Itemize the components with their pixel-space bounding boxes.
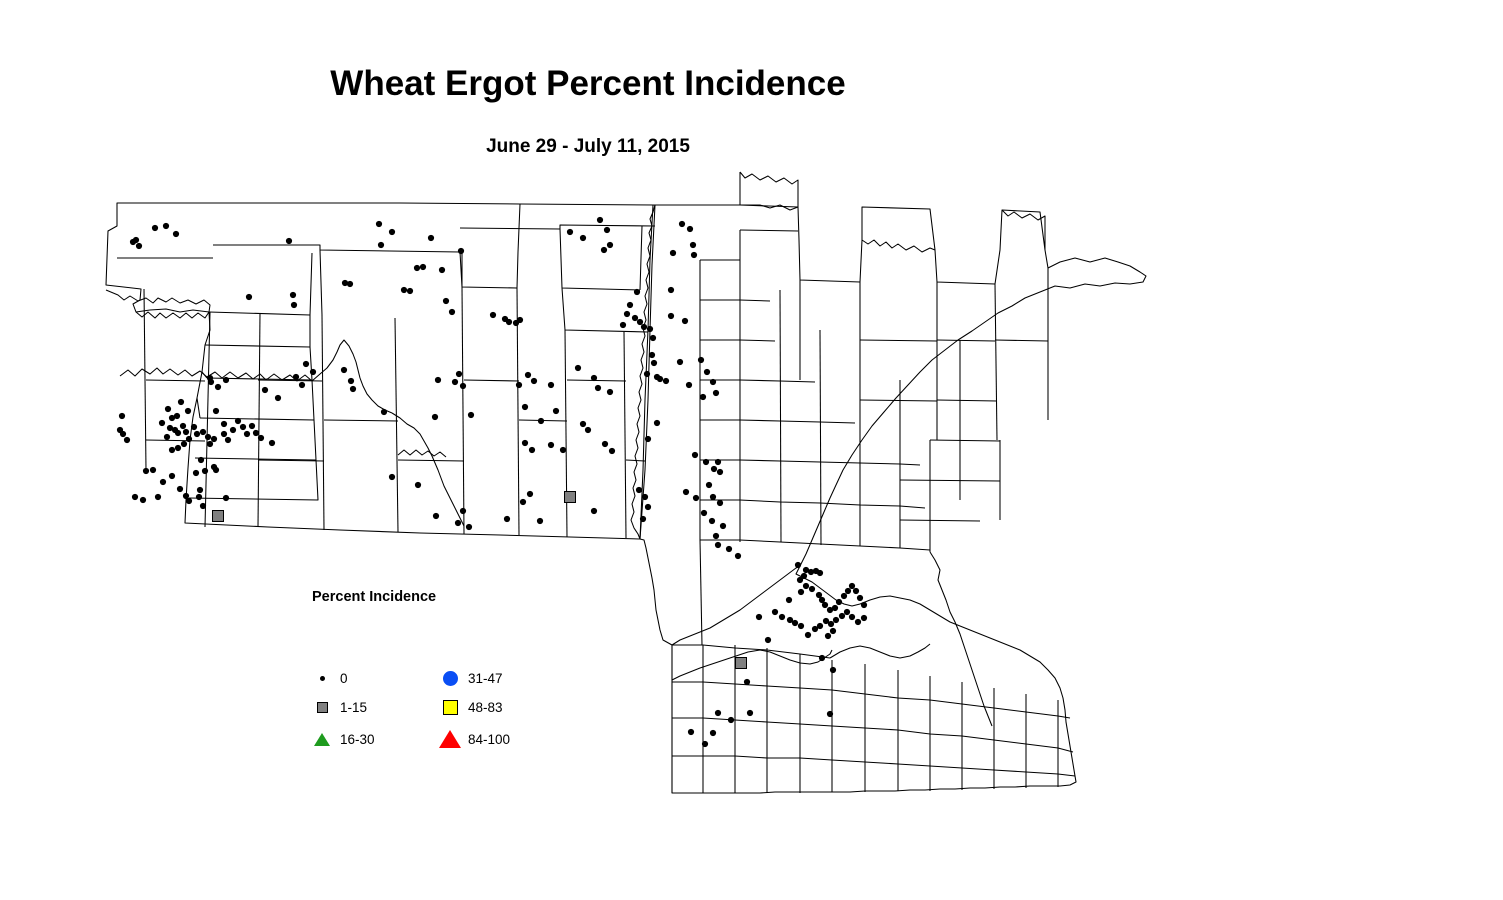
map-point	[401, 287, 407, 293]
map-point	[830, 628, 836, 634]
map-point	[516, 382, 522, 388]
map-point	[832, 605, 838, 611]
map-point	[432, 414, 438, 420]
map-point	[817, 570, 823, 576]
map-point	[735, 553, 741, 559]
map-point	[213, 511, 224, 522]
map-point	[668, 313, 674, 319]
map-point	[845, 588, 851, 594]
map-point	[529, 447, 535, 453]
map-point	[490, 312, 496, 318]
map-point	[830, 667, 836, 673]
map-point	[136, 243, 142, 249]
map-legend: Percent Incidence 0 1-15 16-30 31-47 48-…	[310, 589, 540, 719]
map-point	[435, 377, 441, 383]
map-point	[525, 372, 531, 378]
map-point	[504, 516, 510, 522]
map-point	[601, 247, 607, 253]
map-canvas	[0, 0, 1503, 900]
map-point	[185, 408, 191, 414]
map-point	[702, 741, 708, 747]
map-point	[200, 429, 206, 435]
small-black-dot-icon	[310, 676, 334, 681]
map-point	[215, 384, 221, 390]
map-point	[710, 730, 716, 736]
map-point	[839, 613, 845, 619]
map-point	[709, 518, 715, 524]
map-point	[193, 470, 199, 476]
map-point	[609, 448, 615, 454]
map-point	[657, 376, 663, 382]
map-point	[207, 441, 213, 447]
map-point	[704, 369, 710, 375]
map-point	[645, 436, 651, 442]
map-point	[538, 418, 544, 424]
map-point	[140, 497, 146, 503]
map-point	[849, 614, 855, 620]
map-point	[717, 469, 723, 475]
map-point	[132, 494, 138, 500]
gray-square-icon	[310, 702, 334, 713]
map-point	[240, 424, 246, 430]
map-point	[466, 524, 472, 530]
map-point	[645, 504, 651, 510]
map-point	[198, 457, 204, 463]
map-point	[747, 710, 753, 716]
map-point	[389, 229, 395, 235]
map-point	[460, 508, 466, 514]
map-point	[548, 442, 554, 448]
map-point	[253, 430, 259, 436]
map-point	[458, 248, 464, 254]
map-point	[223, 377, 229, 383]
map-point	[120, 431, 126, 437]
map-point	[792, 620, 798, 626]
map-point	[649, 352, 655, 358]
map-point	[350, 386, 356, 392]
map-point	[575, 365, 581, 371]
state-county-boundaries	[106, 172, 1146, 793]
map-point	[159, 420, 165, 426]
map-point	[637, 319, 643, 325]
map-point	[803, 583, 809, 589]
map-point	[855, 619, 861, 625]
map-point	[819, 655, 825, 661]
map-point	[155, 494, 161, 500]
map-point	[690, 242, 696, 248]
map-point	[798, 589, 804, 595]
map-point	[668, 287, 674, 293]
map-point	[857, 595, 863, 601]
map-point	[772, 609, 778, 615]
map-point	[634, 289, 640, 295]
map-point	[654, 420, 660, 426]
map-point	[679, 221, 685, 227]
map-point	[720, 523, 726, 529]
legend-item-31-47[interactable]: 31-47	[438, 669, 503, 687]
map-point	[180, 423, 186, 429]
map-point	[378, 242, 384, 248]
map-point	[152, 225, 158, 231]
map-point	[686, 382, 692, 388]
map-point	[150, 467, 156, 473]
map-point	[591, 508, 597, 514]
red-triangle-icon	[438, 730, 462, 748]
map-point	[433, 513, 439, 519]
map-point	[744, 679, 750, 685]
yellow-square-icon	[438, 700, 462, 715]
legend-label-0: 0	[340, 671, 348, 686]
map-point	[703, 459, 709, 465]
map-point	[636, 487, 642, 493]
map-point	[205, 434, 211, 440]
map-point	[765, 637, 771, 643]
map-point	[736, 658, 747, 669]
map-point	[597, 217, 603, 223]
map-point	[715, 710, 721, 716]
map-point	[522, 404, 528, 410]
map-point	[801, 573, 807, 579]
legend-label-1-15: 1-15	[340, 700, 367, 715]
map-point	[213, 467, 219, 473]
map-point	[632, 315, 638, 321]
map-point	[303, 361, 309, 367]
map-point	[186, 436, 192, 442]
map-point	[670, 250, 676, 256]
map-point	[798, 623, 804, 629]
map-point	[644, 371, 650, 377]
map-point	[701, 510, 707, 516]
map-point	[706, 482, 712, 488]
map-point	[213, 408, 219, 414]
map-point	[347, 281, 353, 287]
map-point	[389, 474, 395, 480]
map-point	[861, 615, 867, 621]
map-point	[249, 423, 255, 429]
map-point	[585, 427, 591, 433]
map-point	[178, 399, 184, 405]
map-point	[291, 302, 297, 308]
map-point	[194, 431, 200, 437]
map-point	[275, 395, 281, 401]
map-point	[687, 226, 693, 232]
map-point	[293, 374, 299, 380]
legend-item-1-15[interactable]: 1-15	[310, 698, 367, 716]
map-point	[455, 520, 461, 526]
map-point	[710, 379, 716, 385]
map-point	[175, 445, 181, 451]
map-point	[262, 387, 268, 393]
legend-items: 0 1-15 16-30 31-47 48-83 84-100	[310, 627, 540, 717]
map-point	[428, 235, 434, 241]
map-point	[290, 292, 296, 298]
map-point	[624, 311, 630, 317]
map-point	[717, 500, 723, 506]
map-point	[420, 264, 426, 270]
map-point	[565, 492, 576, 503]
map-point	[651, 360, 657, 366]
map-point	[415, 482, 421, 488]
map-point	[407, 288, 413, 294]
map-point	[580, 235, 586, 241]
map-point	[691, 252, 697, 258]
map-point	[809, 586, 815, 592]
map-point	[779, 614, 785, 620]
map-point	[786, 597, 792, 603]
map-point	[414, 265, 420, 271]
map-point	[683, 489, 689, 495]
green-triangle-icon	[310, 733, 334, 746]
map-point	[567, 229, 573, 235]
map-point	[443, 298, 449, 304]
map-point	[299, 382, 305, 388]
map-point	[225, 437, 231, 443]
map-point	[211, 436, 217, 442]
county-map-svg	[0, 0, 1503, 900]
map-point	[715, 542, 721, 548]
map-point	[595, 385, 601, 391]
legend-label-84-100: 84-100	[468, 732, 510, 747]
map-point	[286, 238, 292, 244]
legend-title: Percent Incidence	[312, 589, 540, 605]
map-point	[647, 326, 653, 332]
map-point	[756, 614, 762, 620]
map-point	[163, 223, 169, 229]
map-point	[650, 335, 656, 341]
map-point	[173, 231, 179, 237]
map-point	[548, 382, 554, 388]
map-point	[715, 459, 721, 465]
map-point	[607, 242, 613, 248]
map-point	[560, 447, 566, 453]
map-point	[795, 562, 801, 568]
map-point	[452, 379, 458, 385]
map-point	[698, 357, 704, 363]
map-point	[713, 390, 719, 396]
map-point	[682, 318, 688, 324]
map-point	[124, 437, 130, 443]
map-point	[119, 413, 125, 419]
map-point	[517, 317, 523, 323]
map-point	[181, 441, 187, 447]
map-point	[641, 324, 647, 330]
map-point	[710, 494, 716, 500]
legend-item-48-83[interactable]: 48-83	[438, 698, 503, 716]
legend-item-0[interactable]: 0	[310, 669, 348, 687]
map-point	[663, 378, 669, 384]
map-point	[207, 375, 213, 381]
legend-label-16-30: 16-30	[340, 732, 375, 747]
map-point	[642, 494, 648, 500]
map-point	[160, 479, 166, 485]
blue-circle-icon	[438, 671, 462, 686]
map-point	[196, 494, 202, 500]
map-point	[607, 389, 613, 395]
map-point	[700, 394, 706, 400]
map-point	[693, 495, 699, 501]
map-point	[713, 533, 719, 539]
map-point	[381, 409, 387, 415]
map-point	[531, 378, 537, 384]
legend-label-31-47: 31-47	[468, 671, 503, 686]
map-point	[861, 602, 867, 608]
map-point	[258, 435, 264, 441]
map-point	[836, 599, 842, 605]
map-point	[627, 302, 633, 308]
map-point	[169, 447, 175, 453]
map-point	[439, 267, 445, 273]
map-point	[527, 491, 533, 497]
map-point	[269, 440, 275, 446]
map-point	[853, 588, 859, 594]
map-point	[348, 378, 354, 384]
map-point	[841, 593, 847, 599]
legend-item-84-100[interactable]: 84-100	[438, 730, 510, 748]
map-point	[223, 495, 229, 501]
map-point	[604, 227, 610, 233]
map-point	[246, 294, 252, 300]
map-point	[235, 418, 241, 424]
map-point	[177, 486, 183, 492]
map-point	[805, 632, 811, 638]
map-point	[244, 431, 250, 437]
map-point	[456, 371, 462, 377]
map-point	[692, 452, 698, 458]
map-point	[164, 434, 170, 440]
map-point	[310, 369, 316, 375]
map-point	[825, 633, 831, 639]
map-point	[197, 487, 203, 493]
map-point	[844, 609, 850, 615]
map-point	[827, 711, 833, 717]
map-point	[828, 621, 834, 627]
map-point	[183, 429, 189, 435]
map-point	[728, 717, 734, 723]
map-point	[591, 375, 597, 381]
map-point	[376, 221, 382, 227]
map-point	[449, 309, 455, 315]
map-point	[169, 473, 175, 479]
map-point	[553, 408, 559, 414]
map-point	[175, 430, 181, 436]
map-point	[202, 468, 208, 474]
map-point	[812, 626, 818, 632]
map-point	[230, 427, 236, 433]
map-point	[688, 729, 694, 735]
map-point	[341, 367, 347, 373]
map-point	[174, 413, 180, 419]
map-point	[677, 359, 683, 365]
map-point	[711, 466, 717, 472]
map-point	[186, 498, 192, 504]
map-point	[620, 322, 626, 328]
map-point	[165, 406, 171, 412]
map-point	[833, 617, 839, 623]
map-point	[726, 546, 732, 552]
map-point	[822, 602, 828, 608]
map-point	[602, 441, 608, 447]
map-point	[502, 316, 508, 322]
map-point	[460, 383, 466, 389]
map-point	[221, 421, 227, 427]
map-point	[580, 421, 586, 427]
map-point	[522, 440, 528, 446]
map-point	[133, 237, 139, 243]
map-point	[221, 431, 227, 437]
map-point	[537, 518, 543, 524]
legend-item-16-30[interactable]: 16-30	[310, 730, 375, 748]
map-point	[468, 412, 474, 418]
map-point	[640, 516, 646, 522]
map-point	[520, 499, 526, 505]
map-point	[143, 468, 149, 474]
map-point	[849, 583, 855, 589]
map-point	[191, 424, 197, 430]
legend-label-48-83: 48-83	[468, 700, 503, 715]
map-point	[200, 503, 206, 509]
